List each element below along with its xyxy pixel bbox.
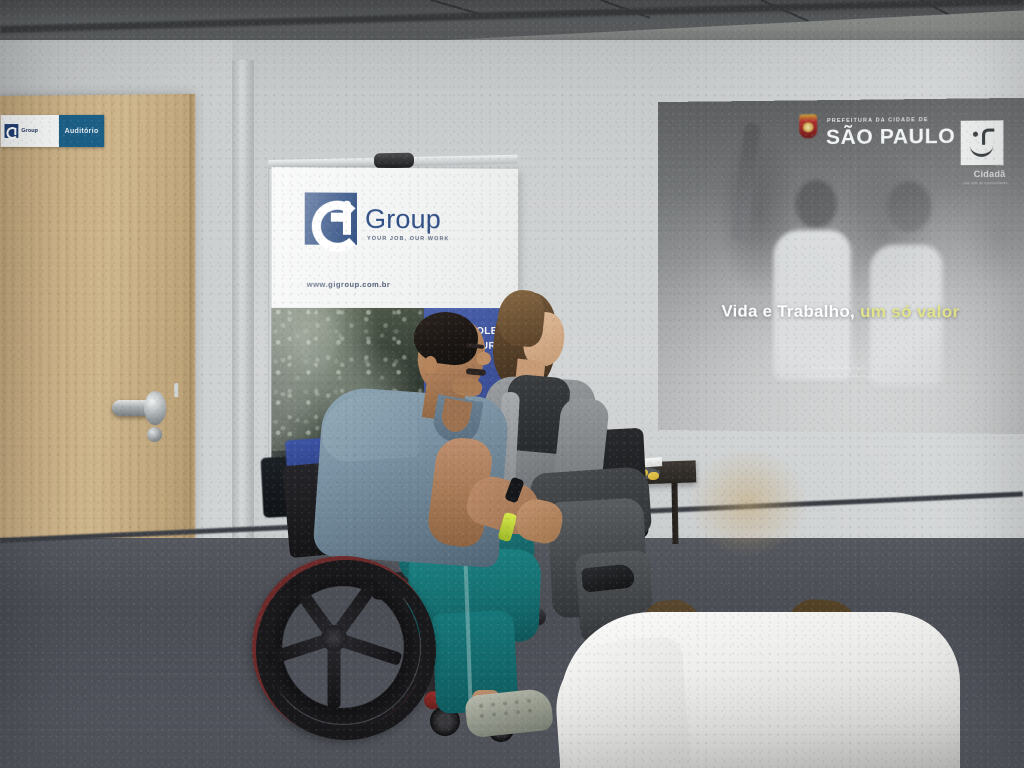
slide-tagline-white: Vida e Trabalho,: [721, 302, 855, 321]
door-handle-rose: [144, 391, 166, 425]
banner-url: www.gigroup.com.br: [307, 280, 391, 289]
man-nose: [477, 352, 491, 365]
plaque-brand-text: Group: [21, 128, 38, 135]
slide-contact: www.redecidada.org.br redecidada@redecid…: [658, 363, 1024, 381]
plaque-brand-name: Group: [21, 128, 38, 135]
sao-paulo-coat-of-arms-icon: [799, 114, 817, 138]
sao-paulo-title: SÃO PAULO: [826, 125, 955, 150]
rede-cidada-sub: Rede: [994, 163, 1004, 167]
gi-group-mark-icon: [305, 192, 357, 244]
door-strike-plate: [174, 383, 178, 397]
rede-cidada-logo: [961, 120, 1004, 165]
rede-cidada-tagline: uma rede de oportunidades: [963, 181, 1008, 185]
door-lock-icon[interactable]: [147, 427, 162, 442]
slide-tagline: Vida e Trabalho, um só valor: [658, 302, 1024, 323]
plaque-room-section: Auditório: [59, 115, 104, 147]
wheel-hub: [321, 625, 347, 651]
smiley-face-icon: [969, 129, 995, 158]
slide-person-head-1: [795, 180, 837, 228]
man-ear: [424, 356, 437, 373]
photo-scene: Group Auditório Group YOUR JOB, OUR WORK…: [0, 0, 1024, 768]
slide-tagline-yellow: um só valor: [860, 302, 959, 321]
plaque-room-label: Auditório: [65, 127, 99, 134]
banner-clamp: [374, 153, 414, 169]
slide-person-head-2: [887, 181, 931, 231]
gi-group-logo-icon: [5, 124, 19, 138]
banner-tagline: YOUR JOB, OUR WORK: [367, 236, 450, 242]
foreground-woman-hair-highlight: [688, 448, 808, 558]
man-clog-shoe: [464, 688, 554, 739]
banner-brand-word: Group: [365, 204, 441, 235]
rede-cidada-name: Cidadã: [974, 169, 1006, 179]
plaque-brand-section: Group: [1, 115, 59, 147]
wheelchair-wheel: [252, 556, 416, 720]
door-plaque: Group Auditório: [1, 115, 105, 147]
prefeitura-label: PREFEITURA DA CIDADE DE: [827, 117, 929, 124]
projection-screen: PREFEITURA DA CIDADE DE SÃO PAULO Rede C…: [658, 98, 1024, 434]
